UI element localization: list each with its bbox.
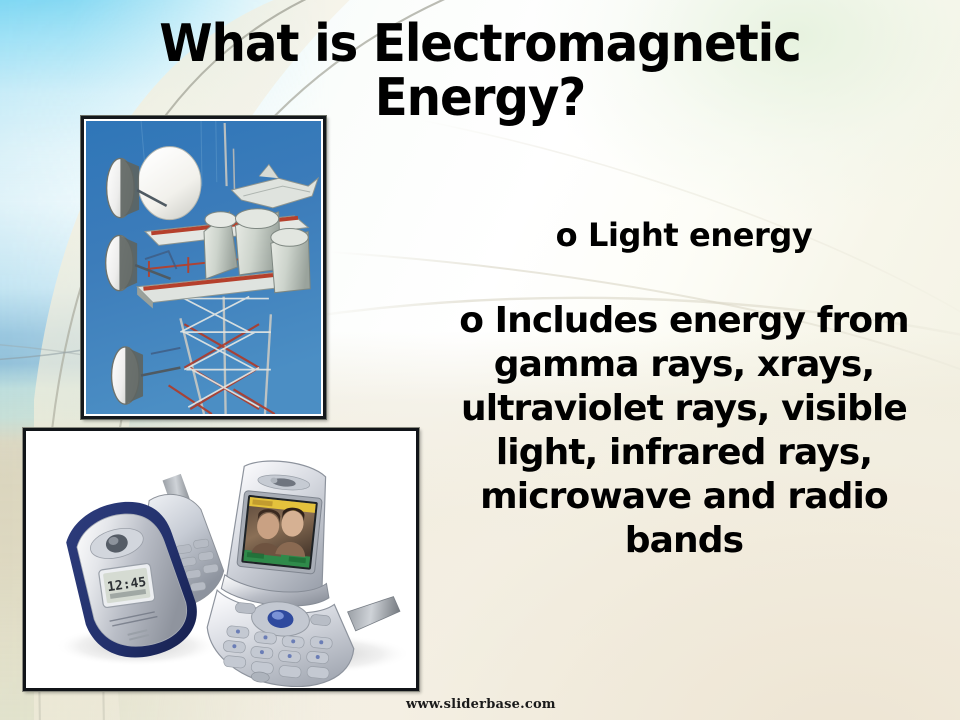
bullet-list: o Light energy o Includes energy from ga… bbox=[420, 218, 948, 563]
list-item: o Light energy bbox=[420, 218, 948, 253]
telecommunications-tower-photo bbox=[86, 121, 321, 414]
source-watermark: www.sliderbase.com bbox=[406, 697, 556, 712]
mobile-phones-photo: 12:45 bbox=[27, 432, 415, 687]
page-title: What is Electromagnetic Energy? bbox=[136, 18, 824, 125]
presentation-slide: What is Electromagnetic Energy? bbox=[0, 0, 960, 720]
mobile-phones-image-frame: 12:45 bbox=[23, 428, 419, 691]
telecommunications-tower-image-frame bbox=[81, 116, 326, 419]
list-item: o Includes energy from gamma rays, xrays… bbox=[420, 299, 948, 562]
